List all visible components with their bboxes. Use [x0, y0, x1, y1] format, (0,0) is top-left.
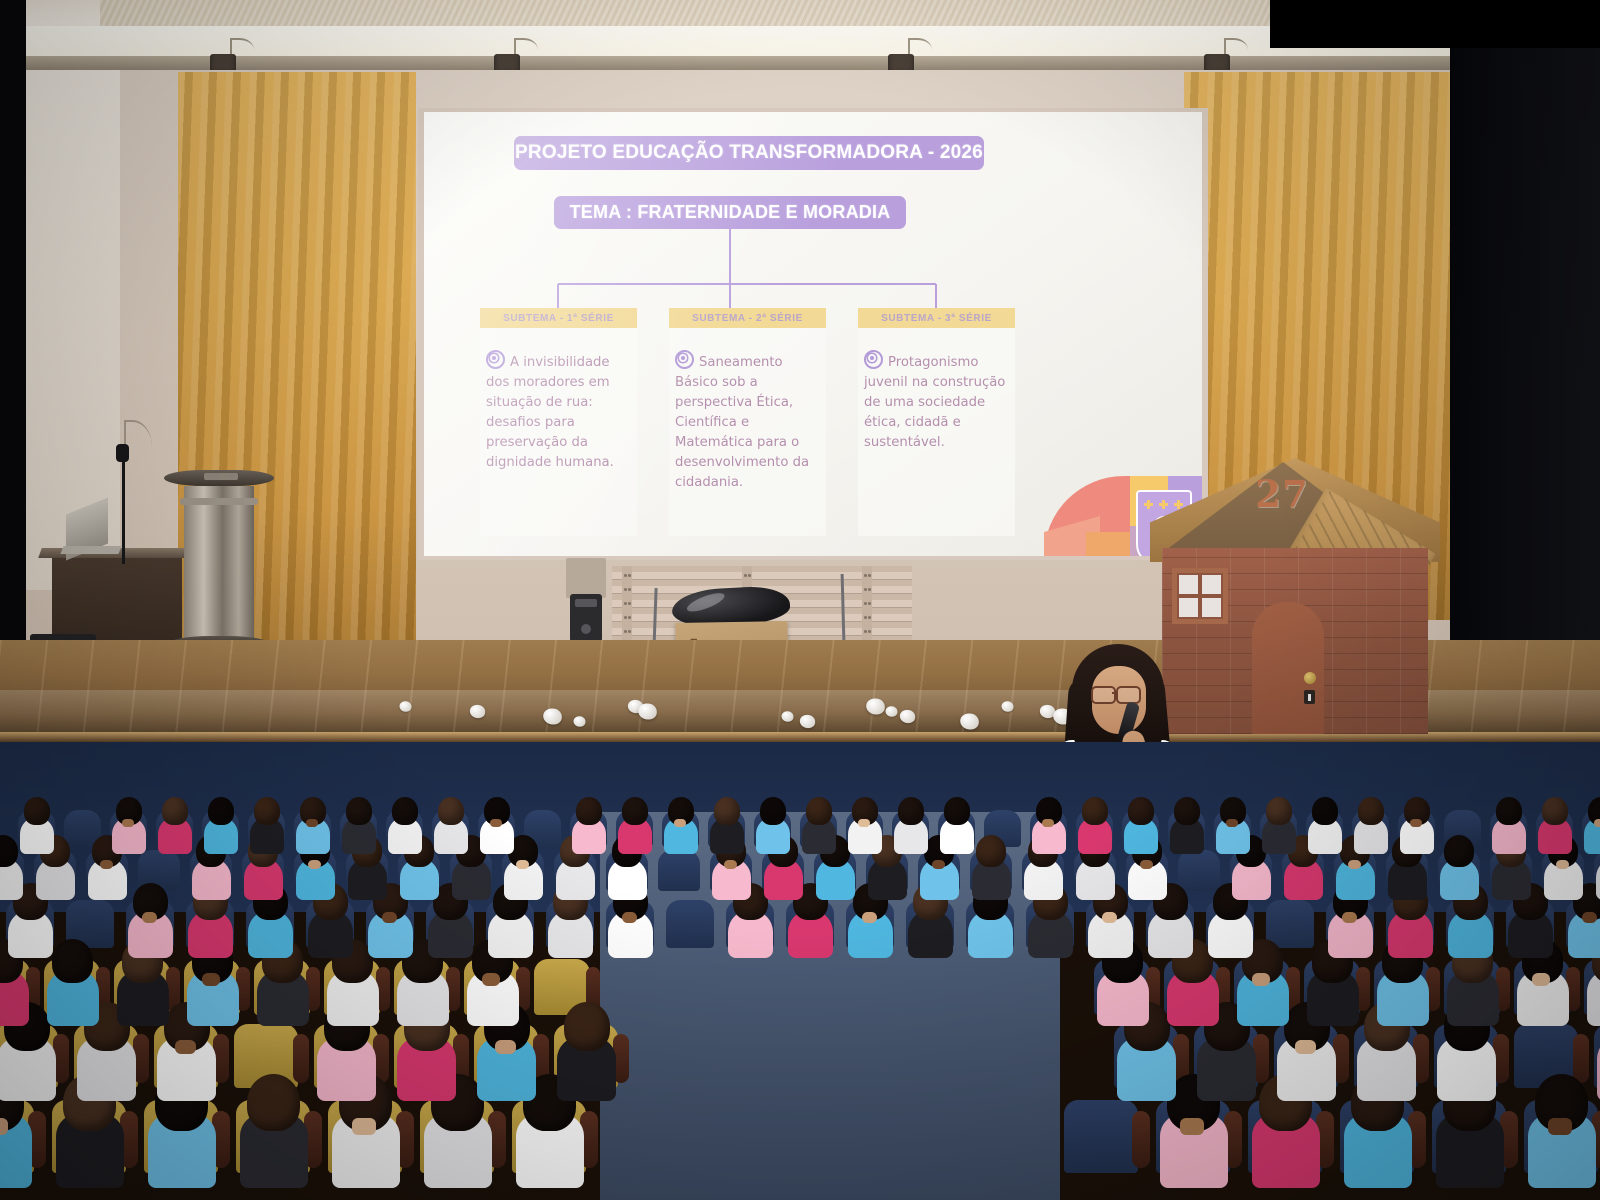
auditorium-seat[interactable]	[666, 900, 714, 948]
subtopic-text-1: A invisibilidade dos moradores em situaç…	[486, 350, 632, 473]
stage-drape-right	[1450, 0, 1600, 740]
auditorium-seat[interactable]	[1178, 850, 1220, 892]
subtopic-text-3: Protagonismo juvenil na construção de um…	[864, 350, 1010, 453]
door-knob-icon	[1304, 672, 1316, 684]
audience-member-head	[1496, 797, 1523, 826]
audience-member-neck	[724, 860, 738, 869]
audience-member-neck	[1594, 819, 1600, 827]
presentation-slide: PROJETO EDUCAÇÃO TRANSFORMADORA - 2026 T…	[424, 112, 1202, 556]
house-door	[1252, 602, 1324, 734]
paper-ball	[400, 701, 412, 711]
seat-armrest	[293, 1034, 309, 1084]
bolt-icon	[624, 602, 627, 605]
bolt-icon	[864, 630, 867, 633]
audience-member-head	[1266, 797, 1293, 826]
audience-member-head	[1082, 797, 1109, 826]
audience-member-head	[714, 797, 741, 826]
bolt-icon	[624, 616, 627, 619]
house-number: 27	[1242, 472, 1322, 516]
audience-member-neck	[1252, 973, 1270, 986]
projection-screen: PROJETO EDUCAÇÃO TRANSFORMADORA - 2026 T…	[424, 112, 1202, 556]
audience-member-head	[162, 797, 189, 826]
paper-ball	[1002, 701, 1014, 711]
auditorium-seat[interactable]	[1266, 900, 1314, 948]
audience-member-neck	[1556, 860, 1570, 869]
auditorium-seat[interactable]	[1064, 1100, 1138, 1174]
subtopic-badge-3: SUBTEMA - 3ª SÉRIE	[858, 308, 1015, 328]
audience-member-head	[622, 797, 649, 826]
audience-member-neck	[0, 1118, 8, 1135]
audience-member-head	[1444, 835, 1474, 867]
wall-intercom	[570, 594, 602, 642]
bolt-icon	[624, 574, 627, 577]
subtopic-badge-2: SUBTEMA - 2ª SÉRIE	[669, 308, 826, 328]
audience-member-head	[1542, 797, 1569, 826]
target-icon	[675, 350, 694, 369]
bolt-icon	[628, 630, 631, 633]
stage-drape-left	[0, 0, 26, 740]
audience-member-neck	[862, 912, 878, 923]
auditorium-scene: PROJETO EDUCAÇÃO TRANSFORMADORA - 2026 T…	[0, 0, 1600, 1200]
tall-mic-stand	[122, 452, 125, 564]
subtopic-text-2: Saneamento Básico sob a perspectiva Étic…	[675, 350, 821, 493]
audience-member-neck	[202, 973, 220, 986]
audience-member-head	[1312, 797, 1339, 826]
paper-ball	[866, 698, 885, 714]
audience-member-head	[1174, 797, 1201, 826]
audience-member-head	[208, 797, 235, 826]
subtopic-column-2: SUBTEMA - 2ª SÉRIE Saneamento Básico sob…	[669, 308, 826, 536]
audience-member-neck	[932, 860, 946, 869]
audience-member-neck	[306, 819, 318, 827]
audience-member-neck	[1582, 912, 1598, 923]
subtopic-column-1: SUBTEMA - 1ª SÉRIE A invisibilidade dos …	[480, 308, 637, 536]
audience-member-head	[576, 797, 603, 826]
audience-member-head	[976, 835, 1006, 867]
audience-member-head	[392, 797, 419, 826]
bolt-icon	[744, 574, 747, 577]
bolt-icon	[868, 602, 871, 605]
audience-member-head	[760, 797, 787, 826]
audience-member-neck	[1348, 860, 1362, 869]
wall-plate	[566, 558, 606, 598]
bolt-icon	[624, 630, 627, 633]
bolt-icon	[628, 602, 631, 605]
paper-ball	[900, 710, 915, 723]
paper-ball	[638, 703, 657, 719]
audience-member-neck	[1410, 819, 1422, 827]
audience-member-neck	[1342, 912, 1358, 923]
target-icon	[486, 350, 505, 369]
bolt-icon	[628, 588, 631, 591]
bolt-icon	[748, 574, 751, 577]
audience-member-neck	[1548, 1118, 1572, 1135]
audience-member-neck	[674, 819, 686, 827]
audience-member-head	[1128, 797, 1155, 826]
bolt-icon	[864, 616, 867, 619]
audience-member-neck	[1140, 860, 1154, 869]
audience-member-head	[254, 797, 281, 826]
paper-ball	[470, 705, 485, 718]
bolt-icon	[868, 630, 871, 633]
paper-ball	[782, 711, 794, 721]
subtopic-column-3: SUBTEMA - 3ª SÉRIE Protagonismo juvenil …	[858, 308, 1015, 536]
bolt-icon	[624, 588, 627, 591]
audience-member-head	[944, 797, 971, 826]
audience-member-neck	[490, 819, 502, 827]
paper-ball	[574, 716, 586, 726]
door-lock-icon	[1304, 690, 1315, 704]
audience-member-neck	[100, 860, 114, 869]
audience-member-neck	[858, 819, 870, 827]
audience-member-neck	[482, 973, 500, 986]
auditorium-seat[interactable]	[658, 850, 700, 892]
paper-ball	[960, 713, 979, 729]
slide-title: PROJETO EDUCAÇÃO TRANSFORMADORA - 2026	[514, 136, 984, 170]
bolt-icon	[864, 588, 867, 591]
audience-member-neck	[352, 1118, 376, 1135]
paper-ball	[886, 706, 898, 716]
seat-armrest	[1573, 1034, 1589, 1084]
audience-member-neck	[516, 860, 530, 869]
house-window	[1172, 568, 1228, 624]
bolt-icon	[864, 602, 867, 605]
target-icon	[864, 350, 883, 369]
audience-member-neck	[308, 860, 322, 869]
paper-ball	[543, 708, 562, 724]
audience-member-head	[898, 797, 925, 826]
bolt-icon	[864, 574, 867, 577]
audience-member-head	[346, 797, 373, 826]
eyeglasses-icon	[1091, 686, 1116, 704]
audience-member-neck	[382, 912, 398, 923]
audience-member-neck	[1102, 912, 1118, 923]
audience-member-neck	[1226, 819, 1238, 827]
audience-member-neck	[175, 1040, 196, 1054]
audience-member-head	[806, 797, 833, 826]
audience-member-head	[52, 939, 93, 982]
audience-member-neck	[142, 912, 158, 923]
paper-ball	[800, 715, 815, 728]
audience-member-neck	[495, 1040, 516, 1054]
audience-member-neck	[1180, 1118, 1204, 1135]
audience-member-neck	[622, 912, 638, 923]
audience-member-head	[1358, 797, 1385, 826]
bolt-icon	[628, 616, 631, 619]
bolt-icon	[868, 574, 871, 577]
seat-armrest	[1132, 1111, 1150, 1168]
audience-member-head	[438, 797, 465, 826]
audience-member-head	[247, 1074, 300, 1131]
audience-member-neck	[1532, 973, 1550, 986]
audience-member-head	[24, 797, 51, 826]
audience-member-neck	[1042, 819, 1054, 827]
slide-theme-box: TEMA : FRATERNIDADE E MORADIA	[554, 196, 906, 229]
audience-member-neck	[122, 819, 134, 827]
bolt-icon	[868, 588, 871, 591]
bolt-icon	[868, 616, 871, 619]
laptop-base	[60, 546, 121, 554]
audience-area	[0, 742, 1600, 1200]
bolt-icon	[628, 574, 631, 577]
audience-member-neck	[1295, 1040, 1316, 1054]
audience-member-head	[564, 1002, 610, 1052]
subtopic-badge-1: SUBTEMA - 1ª SÉRIE	[480, 308, 637, 328]
ceiling-mask-right	[1270, 0, 1600, 48]
